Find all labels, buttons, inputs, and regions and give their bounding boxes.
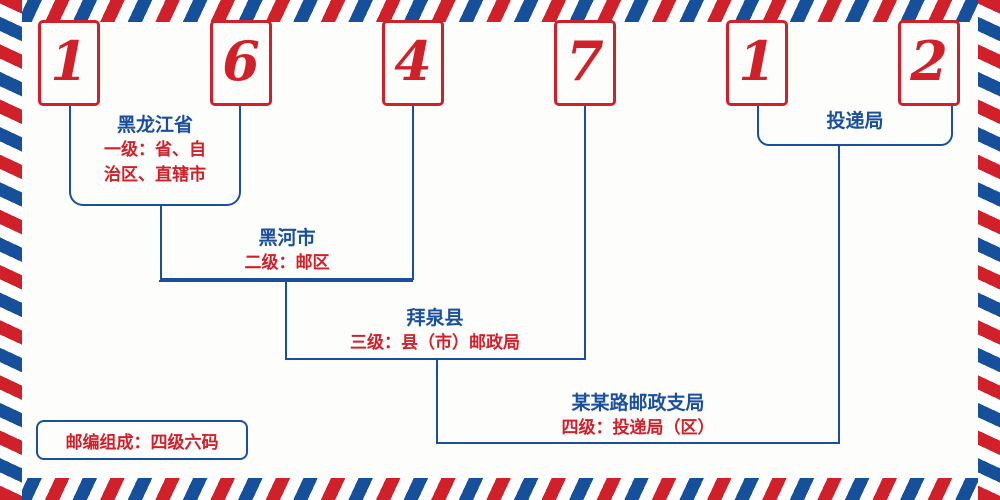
postcode-digit-box-2: 6 (210, 20, 272, 106)
airmail-border-left (0, 0, 22, 500)
delivery-office-title: 投递局 (757, 108, 953, 134)
level-4-label-group: 某某路邮政支局 四级：投递局（区） (436, 390, 840, 441)
airmail-border-right (978, 0, 1000, 500)
level-1-sub-line2: 治区、直辖市 (69, 163, 241, 188)
postcode-digit-3: 4 (385, 23, 441, 103)
level-3-sub-line1: 三级：县（市）邮政局 (285, 331, 585, 356)
connector-level4-horizontal (436, 442, 840, 444)
envelope-diagram: 1 6 4 7 1 2 投递局 黑龙江省 一级：省、自 治区、直辖市 黑河市 二… (0, 0, 1000, 500)
level-4-sub-line1: 四级：投递局（区） (436, 416, 840, 441)
connector-level2-horizontal (160, 278, 414, 280)
level-1-sub-line1: 一级：省、自 (69, 138, 241, 163)
postcode-structure-badge-label: 邮编组成：四级六码 (66, 428, 219, 453)
level-2-sub-line1: 二级：邮区 (160, 251, 414, 276)
postcode-digit-4: 7 (557, 23, 613, 103)
level-2-label-group: 黑河市 二级：邮区 (160, 225, 414, 276)
level-3-title: 拜泉县 (285, 305, 585, 331)
level-4-title: 某某路邮政支局 (436, 390, 840, 416)
postcode-digit-2: 6 (213, 23, 269, 103)
postcode-digit-5: 1 (729, 23, 785, 103)
postcode-digit-box-5: 1 (726, 20, 788, 106)
postcode-digit-box-6: 2 (898, 20, 960, 106)
postcode-digit-1: 1 (41, 23, 97, 103)
level-2-title: 黑河市 (160, 225, 414, 251)
airmail-border-top (0, 0, 1000, 22)
delivery-office-label-group: 投递局 (757, 108, 953, 134)
postcode-digit-box-1: 1 (38, 20, 100, 106)
postcode-digit-6: 2 (901, 23, 957, 103)
postcode-digit-box-3: 4 (382, 20, 444, 106)
postcode-structure-badge: 邮编组成：四级六码 (36, 420, 248, 460)
level-1-label-group: 黑龙江省 一级：省、自 治区、直辖市 (69, 112, 241, 188)
connector-level3-horizontal (285, 358, 585, 360)
airmail-border-bottom (0, 478, 1000, 500)
postcode-digit-box-4: 7 (554, 20, 616, 106)
level-1-title: 黑龙江省 (69, 112, 241, 138)
level-3-label-group: 拜泉县 三级：县（市）邮政局 (285, 305, 585, 356)
